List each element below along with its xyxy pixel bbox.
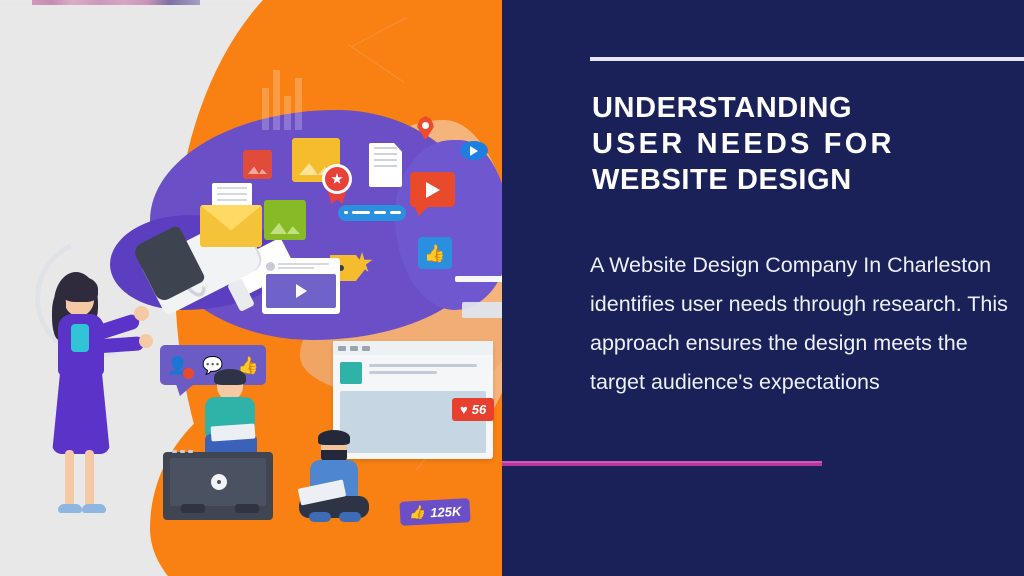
browser-titlebar: [333, 341, 493, 355]
player-card-header: [266, 262, 336, 271]
laptop-icon: [211, 423, 256, 441]
title-line-2: USER NEEDS FOR: [592, 128, 895, 160]
shoe-right: [82, 504, 106, 513]
hair: [318, 430, 350, 445]
avatar: [266, 262, 275, 271]
heart-icon: ♥: [460, 402, 468, 417]
slide-root: 👍 👤 💬 👍: [0, 0, 1024, 576]
search-bar-icon: [338, 205, 406, 221]
like-count-value: 125K: [430, 503, 462, 520]
award-badge-icon: [325, 167, 349, 191]
decor-bar: [462, 302, 502, 318]
monitor-dots: [172, 450, 193, 453]
monitor-knob: [211, 474, 227, 490]
title-line-3: WEBSITE DESIGN: [592, 164, 852, 196]
title-line-1: UNDERSTANDING: [592, 92, 852, 124]
play-circle-icon: [460, 141, 488, 160]
player-card-screen: [266, 274, 336, 308]
page-title: UNDERSTANDING USER NEEDS FOR WEBSITE DES…: [592, 90, 1012, 198]
thumbs-up-icon: 👍: [409, 505, 426, 522]
heart-count-badge: ♥ 56: [452, 398, 494, 421]
monitor-device: [163, 452, 273, 520]
hand-upper: [134, 306, 149, 321]
heart-count-value: 56: [472, 402, 486, 417]
thumbs-up-card-icon: 👍: [418, 237, 452, 269]
shoe-left: [309, 512, 331, 522]
bottom-accent-highlight: [502, 461, 822, 463]
image-card-red: [243, 150, 272, 179]
like-count-badge: 👍 125K: [399, 498, 470, 526]
video-player-card: [262, 258, 340, 314]
hand-lower: [139, 334, 153, 348]
browser-text-lines: [369, 362, 486, 384]
cropped-logo: [32, 0, 200, 5]
browser-post-row: [333, 355, 493, 384]
monitor-foot-right: [235, 504, 259, 513]
illustration-panel: 👍 👤 💬 👍: [0, 0, 502, 576]
document-icon: [369, 143, 402, 187]
player-card-lines: [278, 263, 336, 271]
leg-right: [85, 450, 94, 508]
hair: [214, 369, 246, 385]
woman-with-megaphone: [38, 272, 148, 522]
content-panel: UNDERSTANDING USER NEEDS FOR WEBSITE DES…: [502, 0, 1024, 576]
leg-left: [65, 450, 74, 508]
shoe-right: [339, 512, 361, 522]
ghost-bar-chart: [262, 70, 306, 130]
image-card-green: [264, 200, 306, 240]
decor-bar: [455, 276, 502, 282]
monitor-foot-left: [181, 504, 205, 513]
notification-dot: [183, 368, 194, 379]
video-play-icon: [410, 172, 455, 207]
skirt: [52, 372, 110, 454]
avatar: [340, 362, 362, 384]
top-divider: [590, 57, 1024, 61]
envelope-icon: [200, 205, 262, 247]
man-on-monitor: [195, 370, 265, 465]
body-paragraph: A Website Design Company In Charleston i…: [590, 246, 1010, 402]
man-with-laptop: [293, 430, 375, 526]
shoe-left: [58, 504, 82, 513]
collar: [71, 324, 89, 352]
